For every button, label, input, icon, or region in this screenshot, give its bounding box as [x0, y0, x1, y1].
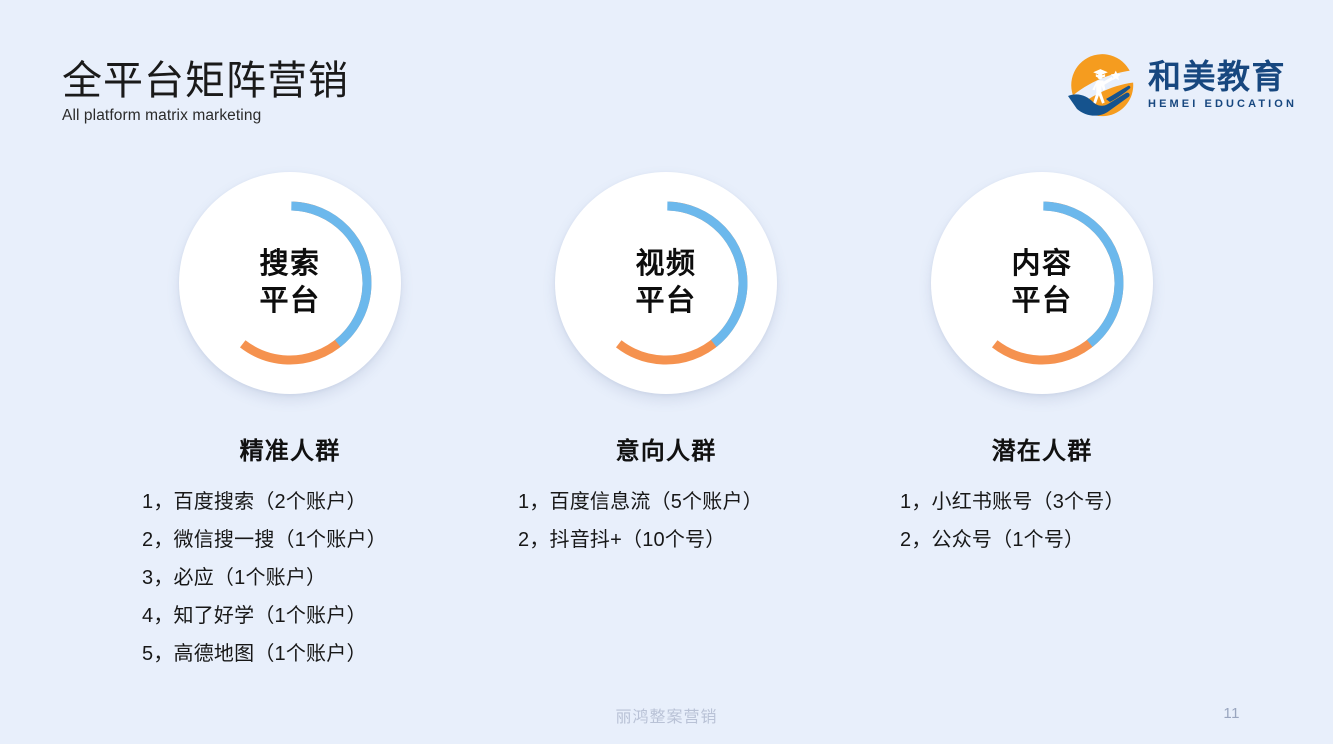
- item-list-content: 1，小红书账号（3个号） 2，公众号（1个号）: [822, 483, 1262, 559]
- footer-note: 丽鸿整案营销: [0, 703, 1333, 727]
- circle-label-line2: 平台: [635, 283, 696, 320]
- page-number: 11: [1223, 705, 1240, 722]
- circle-label-line1: 视频: [635, 246, 696, 283]
- item-list-search: 1，百度搜索（2个账户） 2，微信搜一搜（1个账户） 3，必应（1个账户） 4，…: [70, 483, 510, 673]
- brand-logo: 和美教育 HEMEI EDUCATION: [1064, 52, 1297, 118]
- page-title: 全平台矩阵营销: [62, 58, 349, 105]
- donut-card-search: 搜索 平台: [172, 172, 408, 394]
- donut-card-content: 内容 平台: [924, 172, 1160, 394]
- item-list-video: 1，百度信息流（5个账户） 2，抖音抖+（10个号）: [446, 483, 886, 559]
- circle-label-line1: 搜索: [259, 246, 320, 283]
- title-block: 全平台矩阵营销 All platform matrix marketing: [62, 58, 349, 125]
- donut-card-video: 视频 平台: [548, 172, 784, 394]
- page-subtitle: All platform matrix marketing: [62, 107, 349, 125]
- circle-label-line2: 平台: [1011, 283, 1072, 320]
- circle-label-video: 视频 平台: [635, 246, 696, 319]
- circle-label-line2: 平台: [259, 283, 320, 320]
- circle-label-search: 搜索 平台: [259, 246, 320, 319]
- list-item: 2，公众号（1个号）: [900, 521, 1262, 559]
- slide-bottom-edge: [0, 744, 1333, 750]
- logo-name-en: HEMEI EDUCATION: [1148, 98, 1297, 110]
- group-title-video: 意向人群: [446, 431, 886, 466]
- graduate-sun-hand-icon: [1064, 52, 1140, 118]
- platform-column-video: 视频 平台 意向人群 1，百度信息流（5个账户） 2，抖音抖+（10个号）: [446, 172, 886, 559]
- circle-label-line1: 内容: [1011, 246, 1072, 283]
- list-item: 5，高德地图（1个账户）: [142, 635, 510, 673]
- logo-text: 和美教育 HEMEI EDUCATION: [1148, 60, 1297, 110]
- platform-column-search: 搜索 平台 精准人群 1，百度搜索（2个账户） 2，微信搜一搜（1个账户） 3，…: [70, 172, 510, 673]
- group-title-content: 潜在人群: [822, 431, 1262, 466]
- list-item: 4，知了好学（1个账户）: [142, 597, 510, 635]
- circle-label-content: 内容 平台: [1011, 246, 1072, 319]
- group-title-search: 精准人群: [70, 431, 510, 466]
- slide-header: 全平台矩阵营销 All platform matrix marketing: [0, 0, 1333, 150]
- list-item: 3，必应（1个账户）: [142, 559, 510, 597]
- platform-column-content: 内容 平台 潜在人群 1，小红书账号（3个号） 2，公众号（1个号）: [822, 172, 1262, 559]
- logo-name-cn: 和美教育: [1148, 60, 1297, 95]
- list-item: 1，小红书账号（3个号）: [900, 483, 1262, 521]
- slide-canvas: 全平台矩阵营销 All platform matrix marketing: [0, 0, 1333, 750]
